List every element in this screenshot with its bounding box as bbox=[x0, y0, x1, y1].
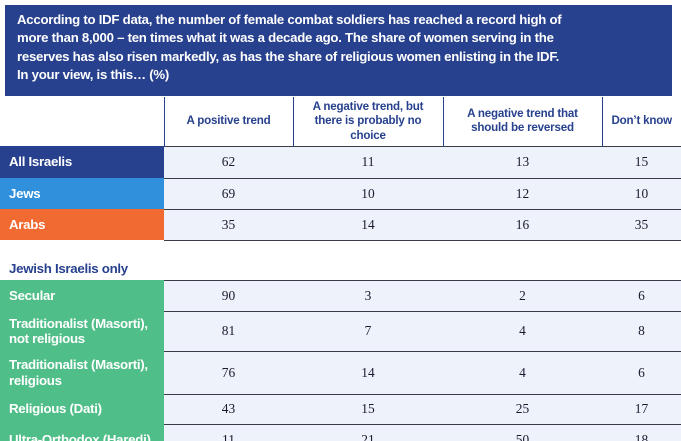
table-row-all-israelis: All Israelis 62 11 13 15 bbox=[0, 146, 681, 178]
table-row-traditionalist-not-religious: Traditionalist (Masorti), not religious … bbox=[0, 311, 681, 351]
cell-arabs-negative-no-choice: 14 bbox=[293, 209, 443, 240]
cell-dati-dont-know: 17 bbox=[602, 394, 681, 424]
cell-haredi-negative-reversed: 50 bbox=[443, 424, 602, 441]
cell-arabs-dont-know: 35 bbox=[602, 209, 681, 240]
cell-trad-religious-negative-no-choice: 14 bbox=[293, 351, 443, 394]
question-banner: According to IDF data, the number of fem… bbox=[5, 5, 672, 96]
cell-jews-dont-know: 10 bbox=[602, 178, 681, 209]
group-cell-3 bbox=[443, 249, 602, 280]
column-header-positive-trend: A positive trend bbox=[164, 97, 293, 146]
cell-trad-religious-positive: 76 bbox=[164, 351, 293, 394]
row-label-arabs: Arabs bbox=[0, 209, 164, 240]
cell-dati-negative-reversed: 25 bbox=[443, 394, 602, 424]
cell-secular-positive: 90 bbox=[164, 280, 293, 311]
cell-all-israelis-negative-no-choice: 11 bbox=[293, 146, 443, 178]
group-cell-4 bbox=[602, 249, 681, 280]
table-row-religious-dati: Religious (Dati) 43 15 25 17 bbox=[0, 394, 681, 424]
question-line-1: According to IDF data, the number of fem… bbox=[17, 11, 660, 29]
table-header: A positive trend A negative trend, but t… bbox=[0, 97, 681, 146]
table-group-row-jewish-israelis-only: Jewish Israelis only bbox=[0, 249, 681, 280]
cell-haredi-negative-no-choice: 21 bbox=[293, 424, 443, 441]
row-label-ultra-orthodox-haredi: Ultra-Orthodox (Haredi) bbox=[0, 424, 164, 441]
cell-haredi-positive: 11 bbox=[164, 424, 293, 441]
corner-cell bbox=[0, 97, 164, 146]
table-row-jews: Jews 69 10 12 10 bbox=[0, 178, 681, 209]
spacer-label-cell bbox=[0, 240, 164, 249]
column-header-negative-no-choice: A negative trend, but there is probably … bbox=[293, 97, 443, 146]
group-cell-1 bbox=[164, 249, 293, 280]
table-row-ultra-orthodox-haredi: Ultra-Orthodox (Haredi) 11 21 50 18 bbox=[0, 424, 681, 441]
cell-dati-negative-no-choice: 15 bbox=[293, 394, 443, 424]
row-label-secular: Secular bbox=[0, 280, 164, 311]
row-label-all-israelis: All Israelis bbox=[0, 146, 164, 178]
spacer-cell-4 bbox=[602, 240, 681, 249]
table-row-secular: Secular 90 3 2 6 bbox=[0, 280, 681, 311]
column-header-negative-should-be-reversed: A negative trend that should be reversed bbox=[443, 97, 602, 146]
results-table: A positive trend A negative trend, but t… bbox=[0, 97, 681, 441]
cell-dati-positive: 43 bbox=[164, 394, 293, 424]
poll-figure: According to IDF data, the number of fem… bbox=[0, 0, 681, 441]
row-label-religious-dati: Religious (Dati) bbox=[0, 394, 164, 424]
cell-jews-negative-no-choice: 10 bbox=[293, 178, 443, 209]
group-cell-2 bbox=[293, 249, 443, 280]
table-row-arabs: Arabs 35 14 16 35 bbox=[0, 209, 681, 240]
question-line-3: reserves has also risen markedly, as has… bbox=[17, 48, 660, 66]
cell-trad-not-religious-negative-no-choice: 7 bbox=[293, 311, 443, 351]
cell-haredi-dont-know: 18 bbox=[602, 424, 681, 441]
cell-secular-dont-know: 6 bbox=[602, 280, 681, 311]
cell-all-israelis-dont-know: 15 bbox=[602, 146, 681, 178]
question-line-4: In your view, is this… (%) bbox=[17, 66, 660, 84]
cell-jews-negative-reversed: 12 bbox=[443, 178, 602, 209]
spacer-cell-2 bbox=[293, 240, 443, 249]
spacer-cell-3 bbox=[443, 240, 602, 249]
table-row-traditionalist-religious: Traditionalist (Masorti), religious 76 1… bbox=[0, 351, 681, 394]
cell-trad-not-religious-negative-reversed: 4 bbox=[443, 311, 602, 351]
table-spacer-after-arabs bbox=[0, 240, 681, 249]
cell-arabs-negative-reversed: 16 bbox=[443, 209, 602, 240]
row-label-jews: Jews bbox=[0, 178, 164, 209]
question-line-2: more than 8,000 – ten times what it was … bbox=[17, 29, 660, 47]
cell-secular-negative-reversed: 2 bbox=[443, 280, 602, 311]
cell-trad-religious-negative-reversed: 4 bbox=[443, 351, 602, 394]
cell-arabs-positive: 35 bbox=[164, 209, 293, 240]
cell-all-israelis-positive: 62 bbox=[164, 146, 293, 178]
cell-trad-religious-dont-know: 6 bbox=[602, 351, 681, 394]
cell-jews-positive: 69 bbox=[164, 178, 293, 209]
cell-all-israelis-negative-reversed: 13 bbox=[443, 146, 602, 178]
row-label-traditionalist-not-religious: Traditionalist (Masorti), not religious bbox=[0, 311, 164, 351]
spacer-cell-1 bbox=[164, 240, 293, 249]
group-label-jewish-israelis-only: Jewish Israelis only bbox=[0, 249, 164, 280]
table-body: All Israelis 62 11 13 15 Jews 69 10 12 1… bbox=[0, 146, 681, 441]
header-row: A positive trend A negative trend, but t… bbox=[0, 97, 681, 146]
cell-secular-negative-no-choice: 3 bbox=[293, 280, 443, 311]
cell-trad-not-religious-positive: 81 bbox=[164, 311, 293, 351]
row-label-traditionalist-religious: Traditionalist (Masorti), religious bbox=[0, 351, 164, 394]
column-header-dont-know: Don’t know bbox=[602, 97, 681, 146]
cell-trad-not-religious-dont-know: 8 bbox=[602, 311, 681, 351]
